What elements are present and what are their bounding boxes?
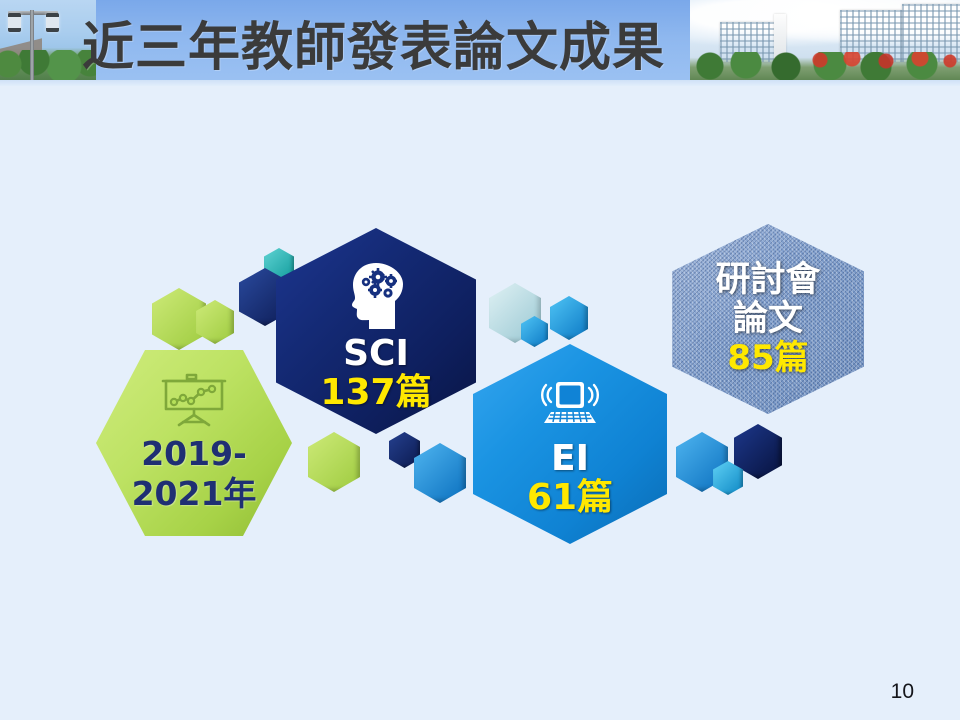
decor-hex-blue-3 [414,443,466,503]
hexagon-conference-line1: 研討會 [715,261,820,300]
hexagon-ei-label: EI [551,440,589,478]
presentation-chart-icon [157,372,231,428]
campus-buildings-photo [690,0,960,82]
hexagon-sci[interactable]: SCI 137篇 [276,228,476,434]
header-underline [0,80,960,86]
lamp-head-left [8,13,21,32]
hexagon-conference-line2: 論文 [715,300,820,339]
decor-hex-green-3 [308,432,360,492]
hexagon-conference[interactable]: 研討會 論文 85篇 [672,224,864,414]
flame-tree-blossoms [808,52,960,74]
head-gears-icon [339,257,413,329]
hexagon-years-line1: 2019- [132,434,257,474]
hexagon-conference-count: 85篇 [727,339,808,377]
lamp-head-right [46,13,59,32]
hexagon-sci-label: SCI [343,335,409,373]
laptop-wifi-icon [533,376,607,434]
hexagon-years-line2: 2021年 [132,474,257,514]
page-title: 近三年教師發表論文成果 [82,4,702,80]
decor-hex-blue-1 [550,296,588,340]
hexagon-sci-count: 137篇 [320,373,431,413]
page-number: 10 [891,680,914,704]
lamp-pole [30,10,34,82]
hexagon-years[interactable]: 2019- 2021年 [96,350,292,536]
slide-header-banner: 近三年教師發表論文成果 [0,0,960,86]
hexagon-ei[interactable]: EI 61篇 [473,344,667,544]
hexagon-ei-count: 61篇 [527,478,613,518]
